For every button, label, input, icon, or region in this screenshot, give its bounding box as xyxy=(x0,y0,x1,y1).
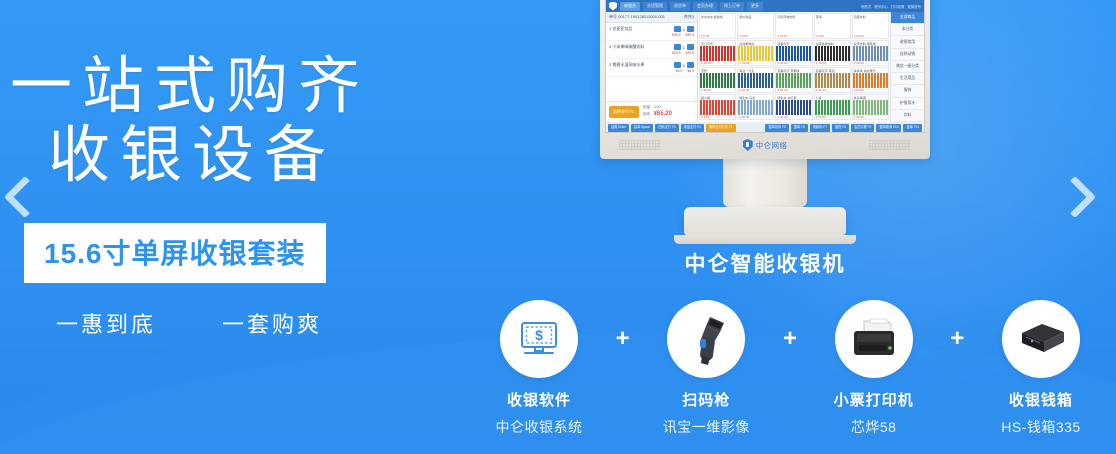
product-image xyxy=(776,46,811,61)
amount-value: ¥65.20 xyxy=(654,111,672,117)
product-price: ¥ 45.00 xyxy=(700,61,735,65)
monitor-stand-foot xyxy=(674,235,856,244)
product-price: ¥ 48.00 xyxy=(700,88,735,92)
accessory-model: 中仑收银系统 xyxy=(480,417,598,437)
product-image xyxy=(700,19,735,34)
chevron-right-icon xyxy=(1054,176,1096,218)
category-button-1[interactable]: 本分类 xyxy=(891,24,924,36)
quantity-stepper[interactable]: 1 xyxy=(674,26,694,32)
product-image xyxy=(853,19,888,34)
pos-body: 单号 00177-190128112000-001 共共3 1 名麦亚饮品1¥3… xyxy=(606,12,924,122)
product-price: ¥ 0.00 xyxy=(700,34,735,38)
cart-item-subtotal: ¥29.9 xyxy=(686,51,695,55)
receipt-printer-icon xyxy=(846,315,902,363)
cart-item-name: 1 名麦亚饮品 xyxy=(609,26,632,32)
cart-item-price: ¥6.9 xyxy=(676,69,683,73)
slogan-row: 一惠到底 一套购爽 xyxy=(56,307,430,339)
cart-row-list: 1 名麦亚饮品1¥39.9¥35.52 小米果味碳酸饮料1¥29.9¥29.93… xyxy=(606,23,697,77)
choose-payment-button[interactable]: 选择支付 F1 xyxy=(609,106,639,118)
product-price: ¥ 60.00 xyxy=(815,115,850,119)
product-image xyxy=(853,73,888,88)
qty-minus-button[interactable] xyxy=(674,62,681,68)
accessory-name: 小票打印机 xyxy=(815,389,933,410)
shield-logo-icon xyxy=(609,2,617,11)
pos-topbar: 收银台交班管理退货单会员办理线上订单更多 销售员账号中心打印设置更换账号 xyxy=(606,0,924,12)
accessory-icon-circle xyxy=(1002,300,1080,378)
footer-button-4[interactable]: 选择支付方式 F1 xyxy=(706,124,736,132)
product-tile[interactable]: 青岛一元麦¥ 40.00 xyxy=(737,67,774,93)
product-tile[interactable]: 七喜¥ 60.00 xyxy=(814,94,851,120)
pos-tab-1[interactable]: 交班管理 xyxy=(643,2,667,11)
amount-label: 应收： xyxy=(643,112,654,116)
product-image xyxy=(815,19,850,34)
product-price: ¥ 40.00 xyxy=(738,88,773,92)
product-image xyxy=(853,46,888,61)
product-image xyxy=(738,73,773,88)
monitor-bezel: 收银台交班管理退货单会员办理线上订单更多 销售员账号中心打印设置更换账号 单号 … xyxy=(600,0,930,159)
accessory-icon-circle: $ xyxy=(500,300,578,378)
pos-footer-toolbar: 结算 Enter挂单 Space扫码支付 F3现金支付 F4选择支付方式 F1整… xyxy=(606,122,924,133)
product-image xyxy=(815,46,850,61)
accessory-model: HS-钱箱335 xyxy=(982,417,1100,437)
pos-tab-2[interactable]: 退货单 xyxy=(670,2,690,11)
cart-spacer xyxy=(606,77,697,101)
product-image xyxy=(853,100,888,115)
product-tile[interactable]: 白茶香香饮料¥ 45.00 xyxy=(814,40,851,66)
accessory-item[interactable]: $收银软件中仑收银系统 xyxy=(480,300,598,437)
product-image xyxy=(738,46,773,61)
qty-value: 1 xyxy=(683,27,685,32)
pos-tab-5[interactable]: 更多 xyxy=(747,2,763,11)
product-price: ¥ 60.00 xyxy=(853,88,888,92)
plus-separator-icon: + xyxy=(613,300,633,378)
cart-row[interactable]: 1 名麦亚饮品1¥39.9¥35.5 xyxy=(606,23,697,41)
product-price: ¥ 3.60 xyxy=(700,115,735,119)
category-button-6[interactable]: 服饰 xyxy=(891,85,924,97)
promo-badge: 15.6寸单屏收银套装 xyxy=(24,223,326,283)
product-tile[interactable]: 蓝带饮料·绿茶版¥ 45.00 xyxy=(852,40,889,66)
qty-value: 1 xyxy=(683,63,685,68)
product-price: ¥ 45.00 xyxy=(853,61,888,65)
bezel-brand: 中仑网络 xyxy=(743,139,788,151)
bezel-brand-text: 中仑网络 xyxy=(756,140,788,151)
footer-button-5[interactable]: 整单折扣 F5 xyxy=(765,124,788,132)
product-tile[interactable]: 包装饮料¥ 20.00 xyxy=(852,13,889,39)
qty-plus-button[interactable] xyxy=(687,44,694,50)
quantity-stepper[interactable]: 1 xyxy=(674,44,694,50)
cash-register-software-icon: $ xyxy=(516,316,562,362)
product-tile[interactable]: 青岛啤酒¥ 55.00 xyxy=(852,94,889,120)
accessory-icon-circle xyxy=(835,300,913,378)
product-image xyxy=(776,73,811,88)
category-button-3[interactable]: 自热动销 xyxy=(891,49,924,61)
footer-button-11[interactable]: 挂单 F11 xyxy=(903,124,922,132)
product-price: ¥ 2.00 xyxy=(815,34,850,38)
product-price: ¥ 10.00 xyxy=(776,34,811,38)
pos-monitor: 收银台交班管理退货单会员办理线上订单更多 销售员账号中心打印设置更换账号 单号 … xyxy=(600,0,930,244)
footer-button-2[interactable]: 扫码支付 F3 xyxy=(655,124,678,132)
slogan-right: 一套购爽 xyxy=(222,307,322,339)
pos-category-sidebar: 全部商品本分类收银常用自热动销美妆一级分类生活用品服饰护肤用水饮料 xyxy=(890,12,924,122)
pos-tab-bar: 收银台交班管理退货单会员办理线上订单更多 xyxy=(620,2,763,11)
carousel-next-button[interactable] xyxy=(1052,160,1098,234)
bezel-bottom: 中仑网络 xyxy=(605,133,925,157)
footer-button-6[interactable]: 整单 F6 xyxy=(791,124,808,132)
accessory-name: 收银钱箱 xyxy=(982,389,1100,410)
product-tile[interactable]: 可口可乐¥ 45.00 xyxy=(699,40,736,66)
product-tile[interactable]: 百事可乐·苹果味¥ 32.00 xyxy=(775,67,812,93)
product-tile[interactable]: 百事可乐¥ 45.00 xyxy=(775,40,812,66)
product-image xyxy=(815,73,850,88)
cart-item-subtotal: ¥6.9 xyxy=(687,69,694,73)
product-image xyxy=(776,19,811,34)
pos-tab-4[interactable]: 线上订单 xyxy=(720,2,744,11)
cart-header: 单号 00177-190128112000-001 共共3 xyxy=(606,12,697,23)
cash-drawer-icon xyxy=(1012,319,1070,359)
headline-block: 一站式购齐 收银设备 15.6寸单屏收银套装 一惠到底 一套购爽 xyxy=(0,52,430,339)
shield-logo-icon xyxy=(743,139,753,151)
product-price: ¥ 45.00 xyxy=(815,61,850,65)
product-tile[interactable]: 可乐风味饮料¥ 10.00 xyxy=(775,13,812,39)
accessory-icon-circle xyxy=(667,300,745,378)
product-price: ¥ 20.00 xyxy=(853,34,888,38)
product-tile[interactable]: 运动果味道¥ 79.00 xyxy=(737,40,774,66)
pos-topbar-action-2[interactable]: 打印设置 xyxy=(891,4,905,9)
product-tile[interactable]: 百事可乐·茶饮¥ 32.00 xyxy=(814,67,851,93)
total-label: 总量： xyxy=(643,105,654,109)
footer-button-9[interactable]: 会员办理 F9 xyxy=(851,124,874,132)
plus-separator-icon: + xyxy=(780,300,800,378)
headline-line-2: 收银设备 xyxy=(0,121,430,190)
cart-count: 共共3 xyxy=(684,14,694,20)
product-price: ¥ 45.00 xyxy=(776,61,811,65)
cart-order-no: 单号 00177-190128112000-001 xyxy=(609,14,665,20)
product-price: ¥ 79.00 xyxy=(738,61,773,65)
product-image xyxy=(700,73,735,88)
pos-product-grid: 水水水水 娃哈哈¥ 0.00特价商品¥ 3.00可乐风味饮料¥ 10.00茶饵¥… xyxy=(698,12,890,122)
accessory-item[interactable]: 扫码枪讯宝一维影像 xyxy=(647,300,765,437)
product-price: ¥ 32.00 xyxy=(815,88,850,92)
product-price: ¥ 30.00 xyxy=(776,115,811,119)
pos-topbar-action-0[interactable]: 销售员 xyxy=(861,4,871,9)
product-image xyxy=(815,100,850,115)
product-price: ¥ 32.00 xyxy=(776,88,811,92)
qty-plus-button[interactable] xyxy=(687,26,694,32)
monitor-stand-neck xyxy=(723,159,807,207)
svg-text:$: $ xyxy=(535,327,543,343)
cart-item-price: ¥29.9 xyxy=(672,51,681,55)
product-tile[interactable]: 雷碧¥ 48.00 xyxy=(699,67,736,93)
quantity-stepper[interactable]: 1 xyxy=(674,62,694,68)
cart-row[interactable]: 3 雪碧水温风味水果1¥6.9¥6.9 xyxy=(606,59,697,77)
plus-separator-icon: + xyxy=(947,300,967,378)
product-image xyxy=(700,46,735,61)
product-image xyxy=(776,100,811,115)
product-tile[interactable]: 特价商品¥ 3.00 xyxy=(737,13,774,39)
slogan-left: 一惠到底 xyxy=(56,307,156,339)
pos-topbar-action-3[interactable]: 更换账号 xyxy=(907,4,921,9)
accessory-name: 扫码枪 xyxy=(647,389,765,410)
product-image xyxy=(738,19,773,34)
pos-topbar-action-1[interactable]: 账号中心 xyxy=(874,4,888,9)
product-tile[interactable]: 青青青·综合果汁¥ 60.00 xyxy=(852,67,889,93)
footer-button-3[interactable]: 现金支付 F4 xyxy=(681,124,704,132)
footer-button-10[interactable]: 整单取消 F10 xyxy=(876,124,901,132)
headline-line-1: 一站式购齐 xyxy=(0,52,430,121)
cart-totals: 总量：3.00 应收：¥65.20 xyxy=(643,105,672,119)
cart-item-price: ¥39.9 xyxy=(672,33,681,37)
product-price: ¥ 28.00 xyxy=(738,115,773,119)
total-qty: 3.00 xyxy=(654,105,661,109)
accessory-item[interactable]: 小票打印机芯烨58 xyxy=(815,300,933,437)
product-image xyxy=(700,100,735,115)
accessory-model: 芯烨58 xyxy=(815,417,933,437)
cart-item-name: 2 小米果味碳酸饮料 xyxy=(609,44,644,50)
qty-plus-button[interactable] xyxy=(687,62,694,68)
monitor-stand-base xyxy=(684,207,846,235)
qty-value: 1 xyxy=(683,45,685,50)
pos-topbar-right: 销售员账号中心打印设置更换账号 xyxy=(861,4,921,9)
category-button-7[interactable]: 护肤用水 xyxy=(891,98,924,110)
accessory-item[interactable]: 收银钱箱HS-钱箱335 xyxy=(982,300,1100,437)
accessory-list: $收银软件中仑收银系统+扫码枪讯宝一维影像+小票打印机芯烨58+收银钱箱HS-钱… xyxy=(480,300,1100,437)
footer-button-7[interactable]: 收款码 F7 xyxy=(810,124,830,132)
category-button-2[interactable]: 收银常用 xyxy=(891,36,924,48)
cart-item-name: 3 雪碧水温风味水果 xyxy=(609,62,644,68)
qty-minus-button[interactable] xyxy=(674,44,681,50)
product-price: ¥ 3.00 xyxy=(738,34,773,38)
pos-tab-3[interactable]: 会员办理 xyxy=(693,2,717,11)
accessory-model: 讯宝一维影像 xyxy=(647,417,765,437)
cart-footer: 选择支付 F1 总量：3.00 应收：¥65.20 xyxy=(606,101,697,122)
product-price: ¥ 55.00 xyxy=(853,115,888,119)
footer-button-0[interactable]: 结算 Enter xyxy=(608,124,629,132)
barcode-scanner-icon xyxy=(680,311,732,367)
speaker-grill-left-icon xyxy=(619,140,661,150)
promo-banner: 一站式购齐 收银设备 15.6寸单屏收银套装 一惠到底 一套购爽 收银台交班管理… xyxy=(0,0,1116,454)
cart-item-subtotal: ¥35.5 xyxy=(686,33,695,37)
pos-screen: 收银台交班管理退货单会员办理线上订单更多 销售员账号中心打印设置更换账号 单号 … xyxy=(605,0,925,133)
speaker-grill-right-icon xyxy=(869,140,911,150)
category-button-4[interactable]: 美妆一级分类 xyxy=(891,61,924,73)
product-tile[interactable]: 纯生水·乌龙¥ 28.00 xyxy=(737,94,774,120)
product-tile[interactable]: 茶饵¥ 2.00 xyxy=(814,13,851,39)
pos-cart-panel: 单号 00177-190128112000-001 共共3 1 名麦亚饮品1¥3… xyxy=(606,12,698,122)
footer-button-1[interactable]: 挂单 Space xyxy=(631,124,653,132)
product-tile[interactable]: 水水水水 娃哈哈¥ 0.00 xyxy=(699,13,736,39)
product-tile[interactable]: 纯生水·冰红茶¥ 30.00 xyxy=(775,94,812,120)
product-tile[interactable]: 超大瓶¥ 3.60 xyxy=(699,94,736,120)
accessory-name: 收银软件 xyxy=(480,389,598,410)
footer-button-8[interactable]: 退货 F8 xyxy=(832,124,849,132)
category-button-5[interactable]: 生活用品 xyxy=(891,73,924,85)
qty-minus-button[interactable] xyxy=(674,26,681,32)
machine-caption: 中仑智能收银机 xyxy=(600,248,930,278)
cart-row[interactable]: 2 小米果味碳酸饮料1¥29.9¥29.9 xyxy=(606,41,697,59)
category-button-0[interactable]: 全部商品 xyxy=(891,12,924,24)
category-button-8[interactable]: 饮料 xyxy=(891,110,924,122)
pos-tab-0[interactable]: 收银台 xyxy=(620,2,640,11)
product-image xyxy=(738,100,773,115)
